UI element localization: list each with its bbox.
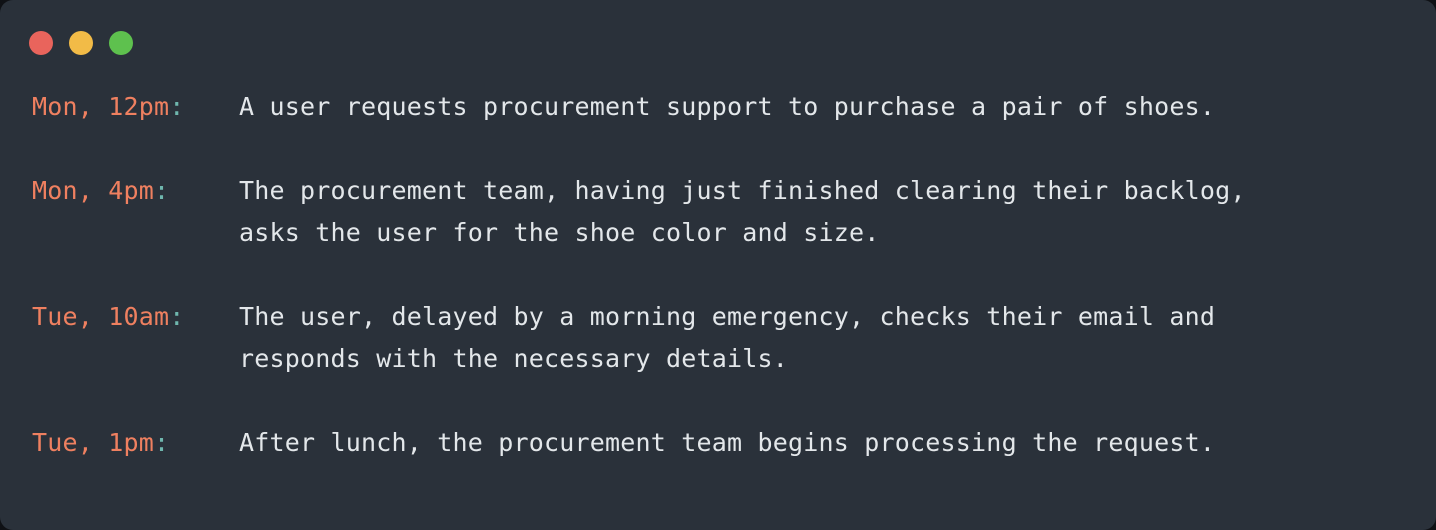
entry-timestamp-colon: : [154,428,169,457]
zoom-window-button[interactable] [109,31,133,55]
entry-description: After lunch, the procurement team begins… [239,422,1408,464]
entry-timestamp-colon: : [154,176,169,205]
entry-description-line: asks the user for the shoe color and siz… [239,212,1408,254]
close-window-button[interactable] [29,31,53,55]
window-titlebar [0,0,1436,86]
entry-description: The user, delayed by a morning emergency… [239,296,1408,380]
entry-timestamp-colon: : [169,302,184,331]
entry-timestamp-text: Tue, 1pm [32,428,154,457]
timeline-entry: Mon, 12pm:A user requests procurement su… [32,86,1408,128]
entry-timestamp: Tue, 10am: [32,296,239,338]
entry-description-line: After lunch, the procurement team begins… [239,422,1408,464]
entry-timestamp-text: Tue, 10am [32,302,169,331]
entry-timestamp: Tue, 1pm: [32,422,239,464]
entry-timestamp: Mon, 4pm: [32,170,239,212]
entry-description-line: The procurement team, having just finish… [239,170,1408,212]
entry-timestamp-text: Mon, 4pm [32,176,154,205]
minimize-window-button[interactable] [69,31,93,55]
entry-description-line: The user, delayed by a morning emergency… [239,296,1408,338]
timeline-entry: Tue, 10am:The user, delayed by a morning… [32,296,1408,380]
entry-description: A user requests procurement support to p… [239,86,1408,128]
entry-timestamp: Mon, 12pm: [32,86,239,128]
entry-description-line: responds with the necessary details. [239,338,1408,380]
timeline-transcript: Mon, 12pm:A user requests procurement su… [0,86,1436,530]
timeline-entry: Mon, 4pm:The procurement team, having ju… [32,170,1408,254]
entry-timestamp-colon: : [169,92,184,121]
terminal-window: Mon, 12pm:A user requests procurement su… [0,0,1436,530]
entry-description: The procurement team, having just finish… [239,170,1408,254]
timeline-entry: Tue, 1pm:After lunch, the procurement te… [32,422,1408,464]
entry-timestamp-text: Mon, 12pm [32,92,169,121]
entry-description-line: A user requests procurement support to p… [239,86,1408,128]
